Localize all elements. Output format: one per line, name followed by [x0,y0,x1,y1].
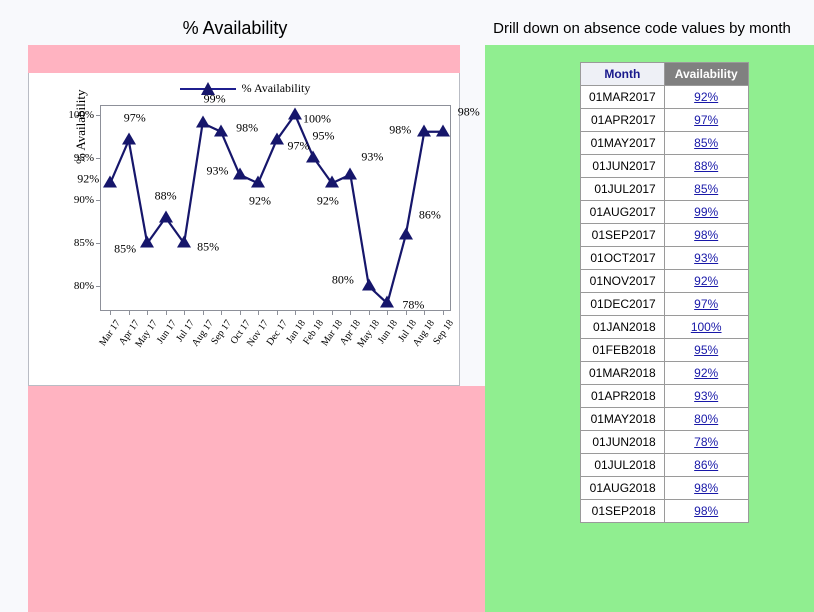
data-point-marker[interactable] [417,124,431,136]
data-point-marker[interactable] [251,176,265,188]
data-point-label: 100% [303,111,331,126]
availability-link[interactable]: 85% [694,136,718,150]
availability-link[interactable]: 80% [694,412,718,426]
availability-link[interactable]: 98% [694,481,718,495]
cell-availability[interactable]: 98% [664,477,748,500]
table-row: 01FEB201895% [581,339,749,362]
data-point-marker[interactable] [122,133,136,145]
cell-month: 01APR2018 [581,385,665,408]
cell-availability[interactable]: 85% [664,178,748,201]
cell-availability[interactable]: 93% [664,247,748,270]
data-point-label: 93% [207,163,229,178]
chart-legend: % Availability [29,81,461,96]
y-tick-label: 80% [74,280,94,292]
green-banner: Month Availability 01MAR201792%01APR2017… [485,45,814,612]
data-point-label: 97% [288,139,310,154]
x-tick-label: Mar 17 [98,318,124,348]
availability-link[interactable]: 97% [694,113,718,127]
data-point-marker[interactable] [288,107,302,119]
cell-availability[interactable]: 85% [664,132,748,155]
availability-table: Month Availability 01MAR201792%01APR2017… [580,62,749,523]
data-point-label: 97% [124,111,146,126]
cell-availability[interactable]: 98% [664,500,748,523]
cell-month: 01OCT2017 [581,247,665,270]
availability-link[interactable]: 85% [694,182,718,196]
table-row: 01MAY201880% [581,408,749,431]
data-point-label: 80% [332,273,354,288]
availability-link[interactable]: 95% [694,343,718,357]
data-point-marker[interactable] [270,133,284,145]
data-point-label: 98% [236,120,258,135]
data-point-marker[interactable] [177,236,191,248]
data-point-label: 99% [204,92,226,107]
drilldown-panel: Drill down on absence code values by mon… [470,0,814,612]
availability-link[interactable]: 88% [694,159,718,173]
table-row: 01JAN2018100% [581,316,749,339]
y-tick-label: 90% [74,194,94,206]
cell-month: 01JUL2017 [581,178,665,201]
table-row: 01JUN201878% [581,431,749,454]
table-header-row: Month Availability [581,63,749,86]
cell-month: 01MAR2017 [581,86,665,109]
table-row: 01SEP201798% [581,224,749,247]
column-header-month[interactable]: Month [581,63,665,86]
cell-month: 01SEP2017 [581,224,665,247]
cell-availability[interactable]: 92% [664,362,748,385]
cell-availability[interactable]: 92% [664,270,748,293]
cell-month: 01DEC2017 [581,293,665,316]
availability-link[interactable]: 93% [694,251,718,265]
availability-link[interactable]: 100% [691,320,722,334]
column-header-availability[interactable]: Availability [664,63,748,86]
data-point-label: 85% [114,242,136,257]
drilldown-title: Drill down on absence code values by mon… [470,20,814,37]
availability-link[interactable]: 98% [694,504,718,518]
availability-link[interactable]: 97% [694,297,718,311]
pink-banner-top [28,45,460,73]
table-row: 01JUL201785% [581,178,749,201]
cell-availability[interactable]: 88% [664,155,748,178]
cell-availability[interactable]: 99% [664,201,748,224]
cell-month: 01JUN2018 [581,431,665,454]
table-row: 01AUG201799% [581,201,749,224]
data-point-marker[interactable] [159,210,173,222]
data-point-marker[interactable] [233,167,247,179]
page-root: % Availability % Availability % Availabi… [0,0,814,612]
data-point-label: 93% [361,149,383,164]
table-body: 01MAR201792%01APR201797%01MAY201785%01JU… [581,86,749,523]
data-point-label: 88% [155,188,177,203]
availability-link[interactable]: 99% [694,205,718,219]
data-point-marker[interactable] [214,124,228,136]
page-title: % Availability [0,18,470,39]
cell-availability[interactable]: 86% [664,454,748,477]
cell-month: 01AUG2017 [581,201,665,224]
data-point-marker[interactable] [399,227,413,239]
table-header: Month Availability [581,63,749,86]
availability-link[interactable]: 78% [694,435,718,449]
table-row: 01AUG201898% [581,477,749,500]
y-tick-label: 85% [74,237,94,249]
data-point-marker[interactable] [325,176,339,188]
cell-month: 01JUL2018 [581,454,665,477]
cell-availability[interactable]: 80% [664,408,748,431]
data-point-label: 78% [402,298,424,313]
table-row: 01APR201893% [581,385,749,408]
availability-link[interactable]: 92% [694,274,718,288]
cell-availability[interactable]: 95% [664,339,748,362]
cell-availability[interactable]: 97% [664,293,748,316]
table-row: 01JUN201788% [581,155,749,178]
data-point-label: 92% [317,194,339,209]
availability-link[interactable]: 98% [694,228,718,242]
table-row: 01APR201797% [581,109,749,132]
cell-availability[interactable]: 98% [664,224,748,247]
cell-availability[interactable]: 97% [664,109,748,132]
plot-area: % Availability 80%85%90%95%100% Mar 17Ap… [100,105,451,311]
cell-month: 01NOV2017 [581,270,665,293]
data-point-label: 92% [77,172,99,187]
cell-month: 01JUN2017 [581,155,665,178]
data-point-marker[interactable] [196,116,210,128]
table-row: 01MAR201792% [581,86,749,109]
cell-month: 01FEB2018 [581,339,665,362]
availability-link[interactable]: 92% [694,90,718,104]
cell-month: 01MAY2017 [581,132,665,155]
chart-container: % Availability % Availability 80%85%90%9… [28,73,460,386]
cell-month: 01APR2017 [581,109,665,132]
y-tick-label: 100% [68,109,94,121]
data-point-marker[interactable] [343,167,357,179]
legend-label: % Availability [242,81,311,96]
table-row: 01MAR201892% [581,362,749,385]
data-point-marker[interactable] [380,296,394,308]
cell-availability[interactable]: 100% [664,316,748,339]
cell-availability[interactable]: 78% [664,431,748,454]
availability-link[interactable]: 86% [694,458,718,472]
data-point-label: 92% [249,194,271,209]
cell-month: 01AUG2018 [581,477,665,500]
cell-month: 01MAY2018 [581,408,665,431]
data-point-marker[interactable] [103,176,117,188]
table-row: 01OCT201793% [581,247,749,270]
cell-availability[interactable]: 92% [664,86,748,109]
data-point-label: 86% [419,207,441,222]
availability-link[interactable]: 93% [694,389,718,403]
data-point-label: 98% [389,122,411,137]
table-row: 01JUL201886% [581,454,749,477]
table-row: 01SEP201898% [581,500,749,523]
cell-month: 01SEP2018 [581,500,665,523]
table-row: 01DEC201797% [581,293,749,316]
data-point-marker[interactable] [140,236,154,248]
cell-month: 01JAN2018 [581,316,665,339]
data-point-label: 95% [312,128,334,143]
cell-month: 01MAR2018 [581,362,665,385]
availability-link[interactable]: 92% [694,366,718,380]
y-tick-label: 95% [74,152,94,164]
data-point-marker[interactable] [436,124,450,136]
data-point-marker[interactable] [362,279,376,291]
availability-chart-panel: % Availability % Availability % Availabi… [0,0,470,612]
table-row: 01MAY201785% [581,132,749,155]
data-point-label: 85% [197,240,219,255]
table-row: 01NOV201792% [581,270,749,293]
cell-availability[interactable]: 93% [664,385,748,408]
